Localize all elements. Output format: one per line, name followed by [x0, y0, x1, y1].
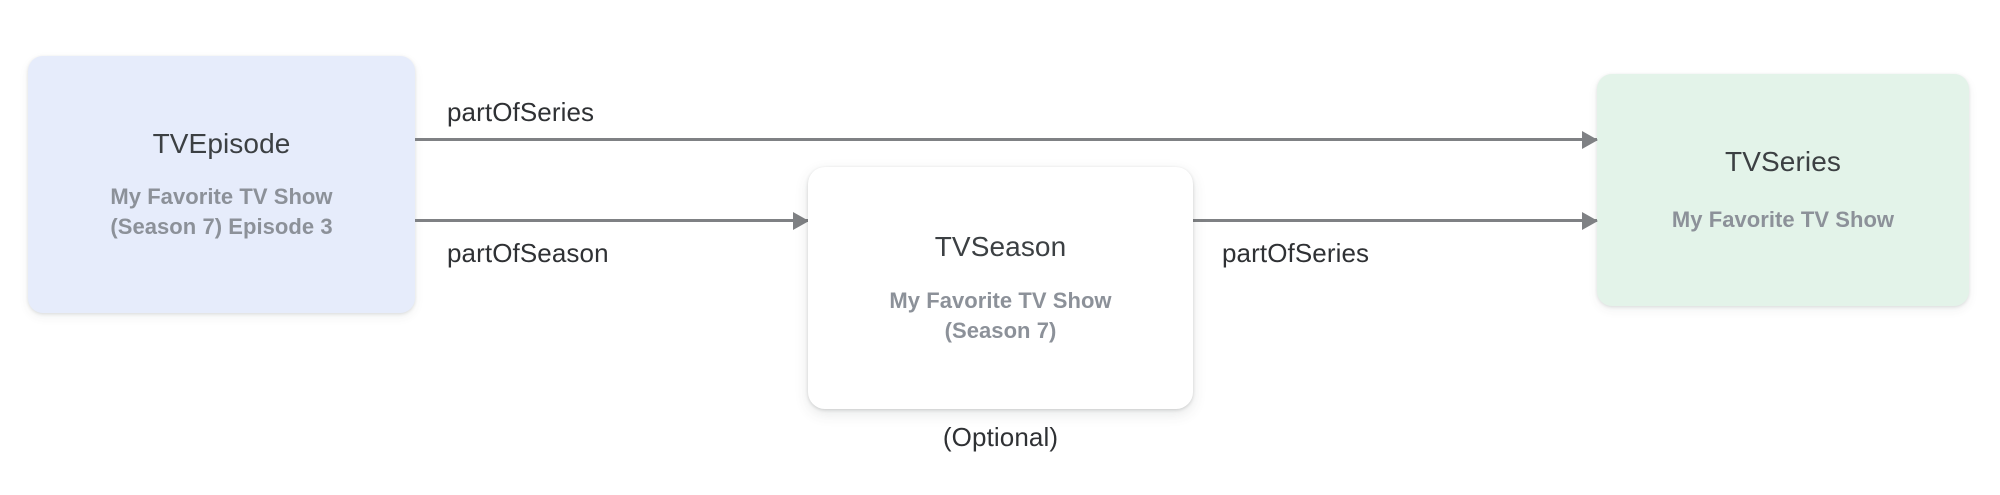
annotation-optional-tvseason: (Optional) [808, 424, 1193, 450]
node-tvepisode-subtitle: My Favorite TV Show (Season 7) Episode 3 [110, 182, 332, 242]
edge-season-to-series [1193, 219, 1597, 222]
node-tvseries-subtitle: My Favorite TV Show [1672, 205, 1894, 235]
node-tvepisode-title: TVEpisode [153, 127, 291, 161]
edge-label-part-of-season: partOfSeason [447, 240, 609, 266]
node-tvepisode[interactable]: TVEpisode My Favorite TV Show (Season 7)… [28, 56, 415, 313]
edge-label-part-of-series-episode: partOfSeries [447, 99, 594, 125]
node-tvseason-title: TVSeason [935, 230, 1067, 264]
node-tvseason[interactable]: TVSeason My Favorite TV Show (Season 7) [808, 167, 1193, 409]
node-tvseries[interactable]: TVSeries My Favorite TV Show [1597, 74, 1969, 306]
diagram-canvas: partOfSeries partOfSeason partOfSeries T… [0, 0, 2000, 495]
node-tvseries-title: TVSeries [1725, 145, 1841, 179]
edge-label-part-of-series-season: partOfSeries [1222, 240, 1369, 266]
edge-episode-to-season [415, 219, 808, 222]
node-tvseason-subtitle: My Favorite TV Show (Season 7) [889, 286, 1111, 346]
edge-episode-to-series [415, 138, 1597, 141]
